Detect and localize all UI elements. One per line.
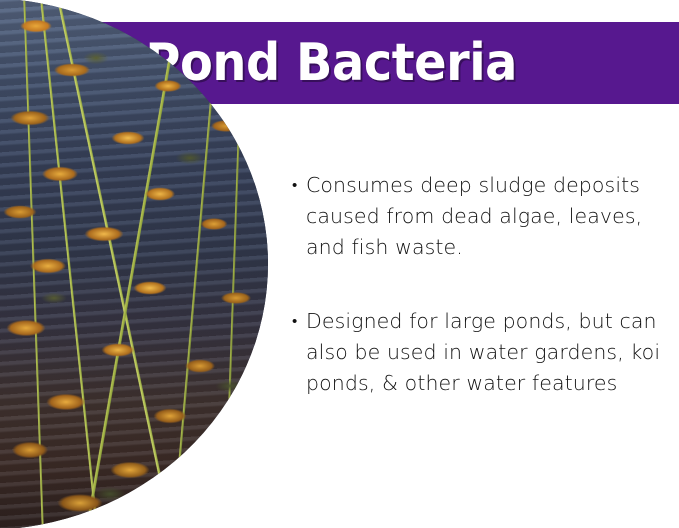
pond-photo-clip <box>0 0 268 528</box>
slide-canvas: Pond Bacteria • Consumes deep sludge dep… <box>0 0 679 528</box>
bullet-dot-icon: • <box>292 306 306 337</box>
list-item-text: Consumes deep sludge deposits caused fro… <box>306 170 664 263</box>
list-item: • Designed for large ponds, but can also… <box>292 306 664 399</box>
bullet-dot-icon: • <box>292 170 306 201</box>
list-item-text: Designed for large ponds, but can also b… <box>306 306 664 399</box>
bullet-list: • Consumes deep sludge deposits caused f… <box>292 170 664 399</box>
list-item: • Consumes deep sludge deposits caused f… <box>292 170 664 263</box>
pond-photo-image <box>0 0 268 528</box>
pond-photo <box>0 0 268 528</box>
